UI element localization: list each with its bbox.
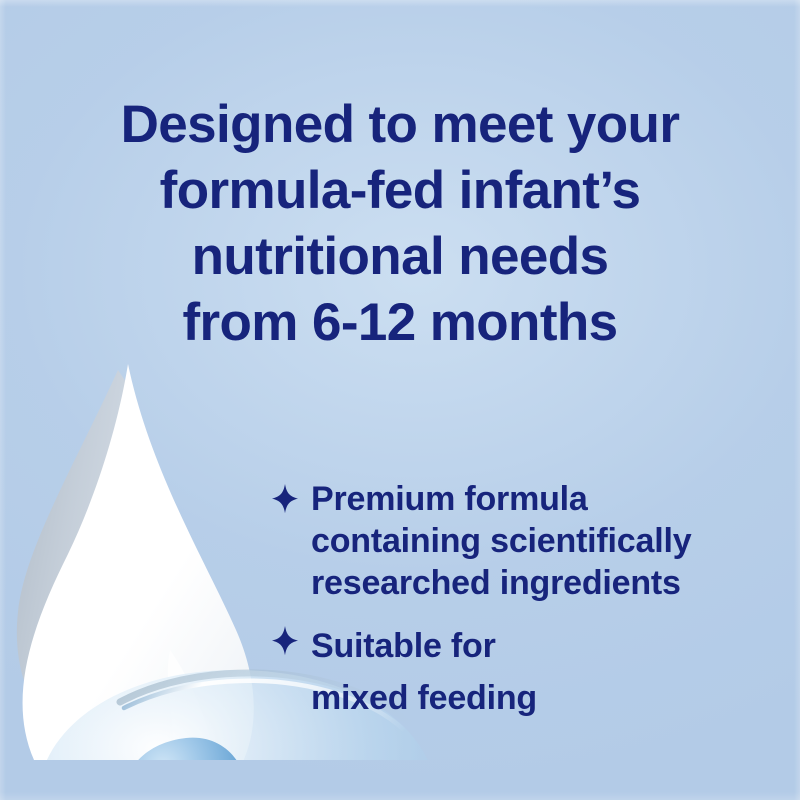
headline-line-1: Designed to meet your	[0, 92, 800, 158]
feature-1-line-1: Premium formula	[311, 478, 788, 520]
feature-item-premium-formula: Premium formula containing scientificall…	[268, 478, 788, 604]
feature-2-line-2: mixed feeding	[311, 672, 788, 724]
feature-item-text: Suitable for mixed feeding	[311, 620, 788, 724]
sparkle-icon	[268, 621, 302, 661]
feature-1-line-3: researched ingredients	[311, 562, 788, 604]
headline-line-3: nutritional needs	[0, 224, 800, 290]
feature-list: Premium formula containing scientificall…	[268, 478, 788, 724]
feature-item-text: Premium formula containing scientificall…	[311, 478, 788, 604]
headline-line-2: formula-fed infant’s	[0, 158, 800, 224]
feature-2-line-1: Suitable for	[311, 620, 788, 672]
headline: Designed to meet your formula-fed infant…	[0, 92, 800, 356]
headline-line-4: from 6-12 months	[0, 290, 800, 356]
feature-item-mixed-feeding: Suitable for mixed feeding	[268, 620, 788, 724]
promo-panel: Designed to meet your formula-fed infant…	[0, 0, 800, 800]
feature-1-line-2: containing scientifically	[311, 520, 788, 562]
sparkle-icon	[268, 479, 302, 519]
